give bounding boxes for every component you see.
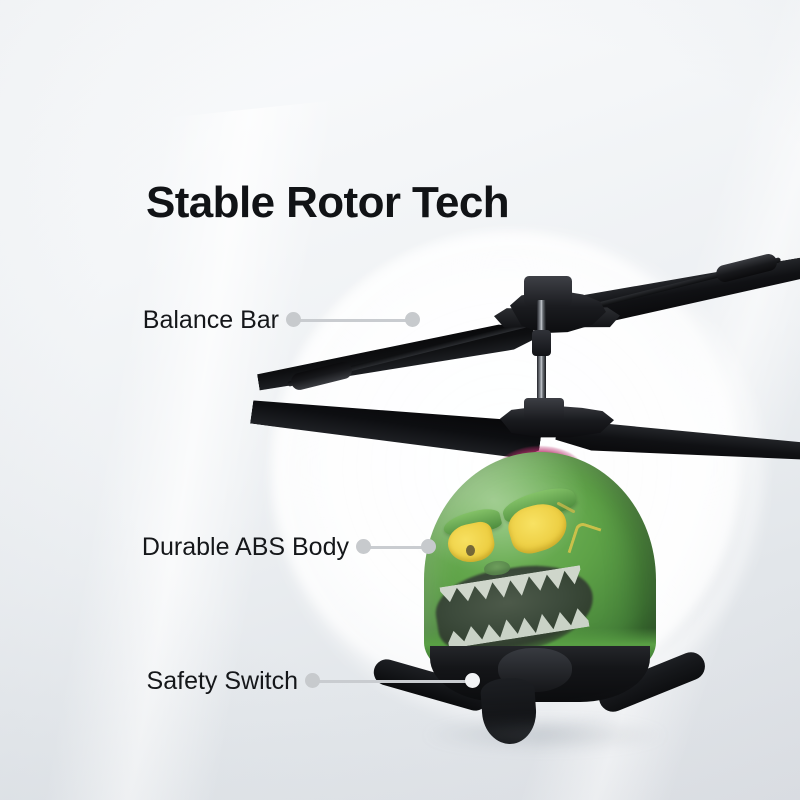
callout-label-balance-bar: Balance Bar [143,306,279,335]
face-stitch-mark [556,501,575,513]
page-title: Stable Rotor Tech [146,178,509,228]
body-accent-stripe [496,446,584,472]
upper-rotor-hub-plate [494,306,620,328]
leader-dot-start-balance-bar [286,312,301,327]
leader-dot-end-balance-bar [405,312,420,327]
face-mouth [430,556,599,664]
safety-switch-housing [498,648,572,692]
product-drop-shadow [420,718,670,752]
leader-line-durable-abs-body [363,546,429,549]
face-teeth-upper [440,565,584,609]
face-scar-mark [568,521,602,560]
face-mouth-fill [430,556,599,664]
upper-rotor-blade-left [255,318,536,391]
leader-dot-start-safety-switch [305,673,320,688]
product-glow-halo [272,232,742,702]
lower-rotor-hub [500,406,614,438]
lower-rotor-hub-top [524,398,564,420]
product-glow-ring [276,236,758,718]
abs-body-shell [424,452,656,670]
leader-dot-end-durable-abs-body [421,539,436,554]
callout-label-safety-switch: Safety Switch [147,667,298,696]
upper-rotor-hub [510,288,606,334]
face-eye-right [504,498,572,558]
balance-bar-right-arm [535,257,781,323]
landing-leg-center [480,676,538,746]
balance-bar-weight-left [289,360,353,391]
balance-bar-weight-right [714,252,778,283]
leader-line-balance-bar [293,319,413,322]
abs-body-rim [424,628,656,676]
balance-bar-left-arm [287,320,537,387]
face-teeth-lower [446,605,590,649]
lower-rotor-blade-right [555,418,800,471]
leader-dot-start-durable-abs-body [356,539,371,554]
face-pupil-left [466,545,475,556]
face-nose [483,560,510,577]
callout-label-durable-abs-body: Durable ABS Body [142,533,349,562]
face-eye-left [445,520,498,567]
leader-line-safety-switch [312,680,473,683]
rotor-mast [537,300,546,424]
upper-rotor-blade-right [545,256,800,333]
face-brow-left [441,505,503,540]
safety-switch-base [430,646,650,702]
face-brow-right [500,482,578,528]
infographic-canvas: Stable Rotor Tech Balance Bar Durable AB… [0,0,800,800]
lower-rotor-blade-left [250,384,543,464]
upper-rotor-hub-top [524,276,572,306]
rotor-mast-collar [532,330,551,356]
leader-dot-end-safety-switch [465,673,480,688]
landing-leg-right [595,648,709,716]
